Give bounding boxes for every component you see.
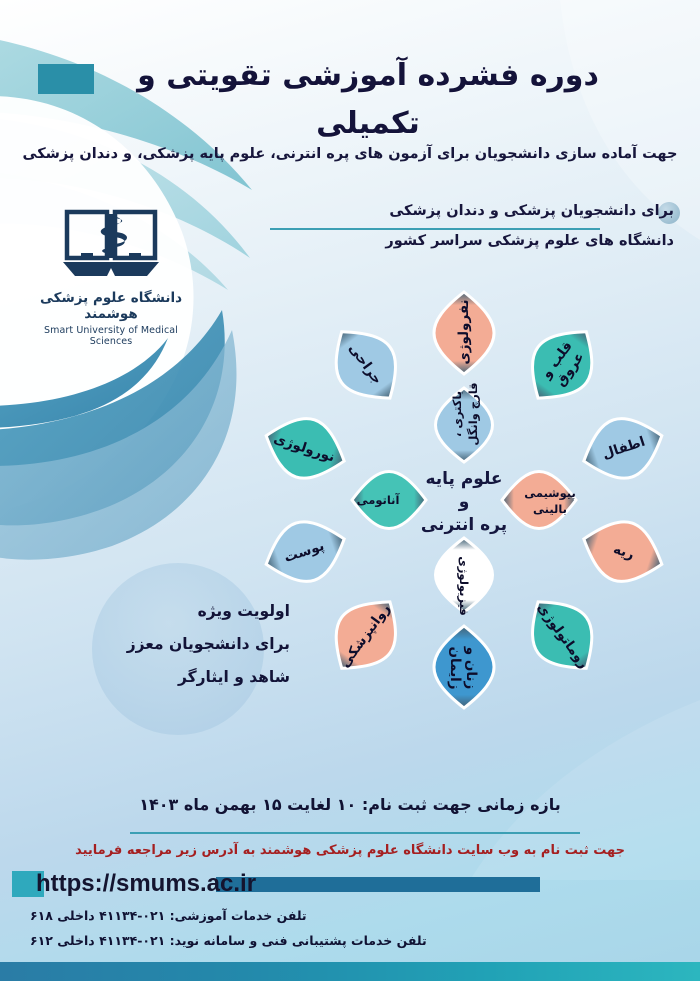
logo-name-en: Smart University of Medical Sciences bbox=[22, 325, 200, 347]
audience-note: برای دانشجویان پزشکی و دندان پزشکی دانشگ… bbox=[354, 196, 680, 256]
petal-label: آناتومی bbox=[357, 493, 401, 508]
petal-shape bbox=[502, 472, 576, 529]
registration-deadline: بازه زمانی جهت ثبت نام: ۱۰ لغایت ۱۵ بهمن… bbox=[0, 795, 700, 814]
petal-label: فیزیولوژی bbox=[457, 556, 472, 616]
laptop-caduceus-icon bbox=[61, 206, 161, 282]
petal-label: زنان وزایمان bbox=[447, 646, 479, 690]
petal-label: نفرولوژی bbox=[456, 299, 472, 364]
title-accent-block bbox=[38, 64, 94, 94]
logo-name-fa: دانشگاه علوم پزشکی هوشمند bbox=[22, 290, 200, 322]
website-url-bar[interactable]: https://smums.ac.ir bbox=[0, 869, 700, 899]
diagram-center-label: علوم پایهوپره انترنی bbox=[421, 469, 507, 535]
footer-divider bbox=[130, 832, 580, 834]
petal-shape bbox=[436, 388, 493, 462]
header: دوره فشرده آموزشی تقویتی و تکمیلی جهت آم… bbox=[0, 52, 700, 106]
petal-inner0[interactable] bbox=[436, 388, 493, 462]
page-title: دوره فشرده آموزشی تقویتی و تکمیلی bbox=[88, 52, 648, 148]
petal-inner1[interactable] bbox=[502, 472, 576, 529]
phone-support: تلفن خدمات پشتیبانی فنی و سامانه نوید: ۰… bbox=[30, 928, 670, 953]
audience-line-2: دانشگاه های علوم پزشکی سراسر کشور bbox=[354, 226, 674, 256]
website-url[interactable]: https://smums.ac.ir bbox=[36, 869, 256, 899]
url-accent-tail bbox=[216, 877, 540, 892]
registration-instruction: جهت ثبت نام به وب سایت دانشگاه علوم پزشک… bbox=[0, 843, 700, 858]
contact-phones: تلفن خدمات آموزشی: ۰۲۱-۴۱۱۳۴ داخلی ۶۱۸ ت… bbox=[2, 903, 670, 953]
bottom-accent-bar bbox=[0, 962, 700, 981]
university-logo: دانشگاه علوم پزشکی هوشمند Smart Universi… bbox=[22, 206, 200, 347]
phone-education: تلفن خدمات آموزشی: ۰۲۱-۴۱۱۳۴ داخلی ۶۱۸ bbox=[30, 903, 670, 928]
title-row: دوره فشرده آموزشی تقویتی و تکمیلی bbox=[0, 52, 700, 106]
petal-label: باکتری ،قارچ وانگل bbox=[450, 382, 481, 445]
poster-canvas: دوره فشرده آموزشی تقویتی و تکمیلی جهت آم… bbox=[0, 0, 700, 981]
audience-line-1: برای دانشجویان پزشکی و دندان پزشکی bbox=[354, 196, 674, 226]
page-subtitle: جهت آماده سازی دانشجویان برای آزمون های … bbox=[0, 144, 700, 164]
specialties-diagram: نفرولوژیقلب وعروقاطفالریهروماتولوژیزنان … bbox=[252, 288, 676, 712]
